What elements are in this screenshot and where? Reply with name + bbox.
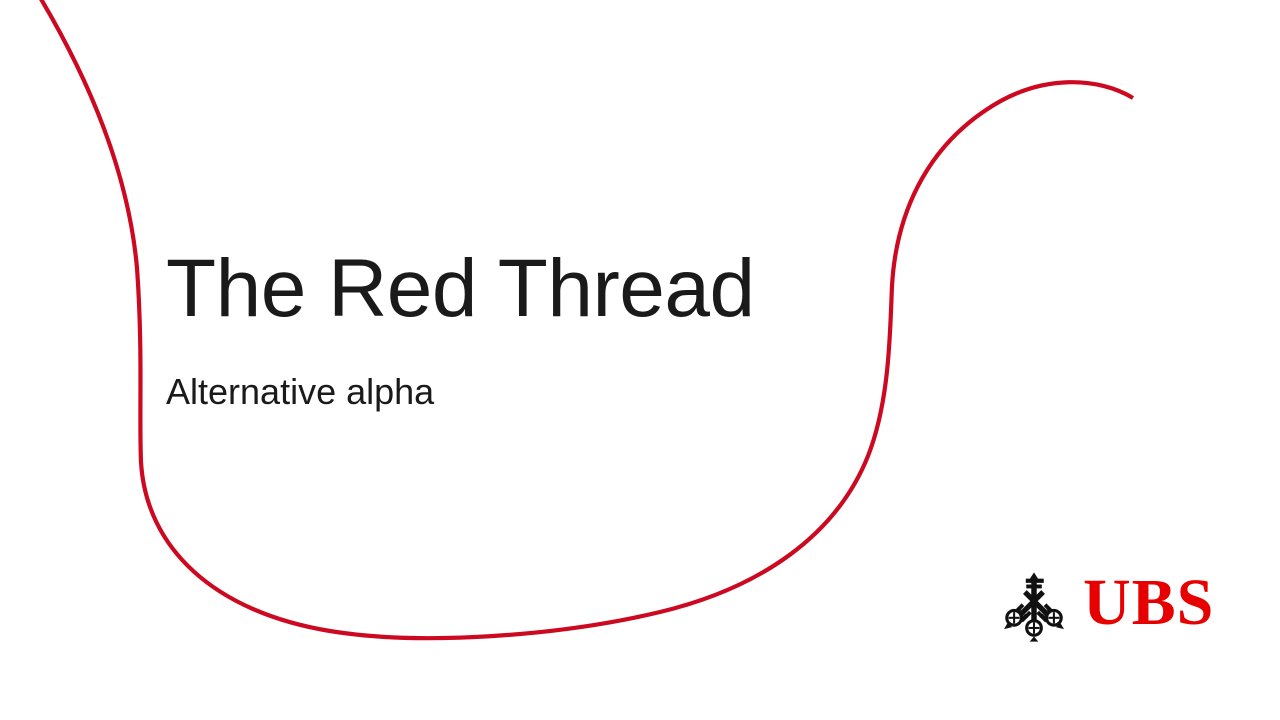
ubs-logo: UBS <box>995 562 1220 644</box>
ubs-three-keys-icon <box>995 564 1073 642</box>
page-title: The Red Thread <box>166 248 926 330</box>
title-slide: The Red Thread Alternative alpha <box>0 0 1280 720</box>
slide-text-block: The Red Thread Alternative alpha <box>166 248 926 410</box>
page-subtitle: Alternative alpha <box>166 330 926 410</box>
ubs-wordmark: UBS <box>1083 570 1214 636</box>
